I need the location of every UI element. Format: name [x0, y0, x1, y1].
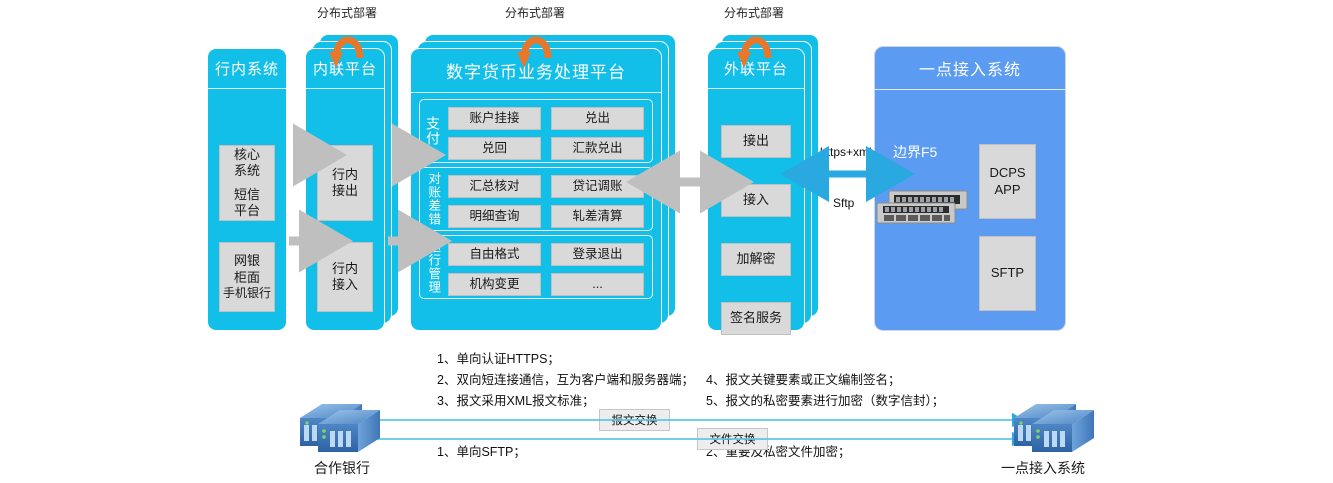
- chip-ext-out[interactable]: 接出: [721, 125, 791, 158]
- chip-line: 手机银行: [223, 286, 271, 301]
- chip-line: 行内: [332, 261, 358, 277]
- chip-dcps-app[interactable]: DCPS APP: [979, 144, 1036, 219]
- group-reconciliation: 对账差错 汇总核对 贷记调账 明细查询 轧差清算: [419, 167, 653, 231]
- chip-line: 接出: [332, 183, 358, 199]
- chip-line: 核心: [234, 147, 260, 163]
- group-payment-label: 支付: [420, 100, 446, 162]
- server-back-slots: [304, 425, 317, 441]
- server-back: [300, 404, 362, 446]
- intranet-system-body: 核心 系统 短信 平台 网银 柜面 手机银行: [208, 89, 286, 330]
- group-operations-cells: 自由格式 登录退出 机构变更 ...: [446, 236, 652, 298]
- chip-credit-adjust[interactable]: 贷记调账: [551, 175, 644, 198]
- note-line: 2、双向短连接通信，互为客户端和服务器端；: [437, 370, 694, 391]
- chip-exchange-back[interactable]: 兑回: [448, 137, 541, 160]
- dcep-platform-card[interactable]: 数字货币业务处理平台 支付 账户挂接 兑出 兑回 汇款兑出 对账差错 汇总核对: [410, 48, 662, 331]
- chip-line: APP: [994, 182, 1020, 198]
- chip-ebank-counter-mobile[interactable]: 网银 柜面 手机银行: [219, 242, 275, 312]
- chip-signature[interactable]: 签名服务: [721, 302, 791, 335]
- access-system-title: 一点接入系统: [875, 47, 1065, 90]
- chip-line: 系统: [234, 163, 260, 179]
- dcep-platform-body: 支付 账户挂接 兑出 兑回 汇款兑出 对账差错 汇总核对 贷记调账 明细查询 轧…: [411, 93, 661, 330]
- label-sftp: Sftp: [833, 196, 854, 210]
- chip-free-format[interactable]: 自由格式: [448, 243, 541, 266]
- group-operations: 运行管理 自由格式 登录退出 机构变更 ...: [419, 235, 653, 299]
- chip-line: DCPS: [989, 165, 1025, 181]
- chip-line: 短信: [234, 187, 260, 203]
- group-reconciliation-cells: 汇总核对 贷记调账 明细查询 轧差清算: [446, 168, 652, 230]
- chip-core-system[interactable]: 核心 系统 短信 平台: [219, 145, 275, 221]
- intranet-system-card[interactable]: 行内系统 核心 系统 短信 平台 网银 柜面 手机银行: [207, 48, 287, 331]
- intranet-system-title: 行内系统: [208, 49, 286, 89]
- chip-sftp[interactable]: SFTP: [979, 236, 1036, 311]
- right-server-label: 一点接入系统: [988, 458, 1098, 478]
- chip-line: 柜面: [234, 270, 260, 286]
- right-server-icon: [1014, 404, 1094, 452]
- chip-summary-check[interactable]: 汇总核对: [448, 175, 541, 198]
- chip-exchange-out[interactable]: 兑出: [551, 107, 644, 130]
- note-line: 5、报文的私密要素进行加密（数字信封）；: [706, 391, 944, 412]
- label-file-exchange: 文件交换: [697, 428, 768, 450]
- server-back: [1014, 404, 1076, 446]
- column-external-platform: 外联平台 接出 接入 加解密 签名服务: [707, 48, 805, 331]
- note-line: 4、报文关键要素或正文编制签名；: [706, 370, 944, 391]
- label-message-exchange: 报文交换: [599, 409, 670, 431]
- chip-remit-exchange-out[interactable]: 汇款兑出: [551, 137, 644, 160]
- notes-right: 4、报文关键要素或正文编制签名； 5、报文的私密要素进行加密（数字信封）；: [706, 370, 944, 412]
- chip-crypto[interactable]: 加解密: [721, 243, 791, 276]
- chip-line: 平台: [234, 203, 260, 219]
- access-system-body: 边界F5 DCPS APP SFTP: [875, 90, 1065, 330]
- external-platform-title: 外联平台: [708, 49, 804, 89]
- chip-line: 行内: [332, 167, 358, 183]
- group-payment-cells: 账户挂接 兑出 兑回 汇款兑出: [446, 100, 652, 162]
- chip-account-link[interactable]: 账户挂接: [448, 107, 541, 130]
- server-front: [318, 410, 380, 452]
- chip-login-logout[interactable]: 登录退出: [551, 243, 644, 266]
- chip-line: 接入: [332, 277, 358, 293]
- chip-internal-out[interactable]: 行内 接出: [317, 145, 373, 221]
- group-payment: 支付 账户挂接 兑出 兑回 汇款兑出: [419, 99, 653, 163]
- column-internal-platform: 内联平台 行内 接出 行内 接入: [305, 48, 385, 331]
- label-https-xml: https+xml: [820, 145, 872, 159]
- boundary-f5-label: 边界F5: [893, 142, 937, 162]
- group-reconciliation-label: 对账差错: [420, 168, 446, 230]
- diagram-canvas: 分布式部署 分布式部署 分布式部署 行内系统 核心 系统 短信 平台 网银 柜面…: [0, 0, 1333, 483]
- column-dcep-platform: 数字货币业务处理平台 支付 账户挂接 兑出 兑回 汇款兑出 对账差错 汇总核对: [410, 48, 662, 331]
- column-intranet-system: 行内系统 核心 系统 短信 平台 网银 柜面 手机银行: [207, 48, 287, 331]
- chip-netting-settlement[interactable]: 轧差清算: [551, 205, 644, 228]
- server-back-slots: [1018, 425, 1031, 441]
- note-bottom-left: 1、单向SFTP；: [437, 442, 526, 463]
- chip-ext-in[interactable]: 接入: [721, 184, 791, 217]
- internal-platform-title: 内联平台: [306, 49, 384, 89]
- server-front: [1032, 410, 1094, 452]
- left-server-icon: [300, 404, 380, 452]
- chip-internal-in[interactable]: 行内 接入: [317, 242, 373, 312]
- chip-detail-query[interactable]: 明细查询: [448, 205, 541, 228]
- access-system-card[interactable]: 一点接入系统 边界F5 DCPS APP SFTP: [874, 46, 1066, 331]
- distributed-label-1: 分布式部署: [317, 4, 377, 21]
- note-line: 1、单向认证HTTPS；: [437, 349, 694, 370]
- distributed-label-3: 分布式部署: [724, 4, 784, 21]
- left-server-label: 合作银行: [297, 458, 387, 478]
- internal-platform-card[interactable]: 内联平台 行内 接出 行内 接入: [305, 48, 385, 331]
- external-platform-body: 接出 接入 加解密 签名服务: [708, 89, 804, 330]
- chip-more[interactable]: ...: [551, 273, 644, 296]
- chip-org-change[interactable]: 机构变更: [448, 273, 541, 296]
- internal-platform-body: 行内 接出 行内 接入: [306, 89, 384, 330]
- group-operations-label: 运行管理: [420, 236, 446, 298]
- external-platform-card[interactable]: 外联平台 接出 接入 加解密 签名服务: [707, 48, 805, 331]
- dcep-platform-title: 数字货币业务处理平台: [411, 49, 661, 93]
- notes-left: 1、单向认证HTTPS； 2、双向短连接通信，互为客户端和服务器端； 3、报文采…: [437, 349, 694, 412]
- chip-line: 网银: [234, 253, 260, 269]
- distributed-label-2: 分布式部署: [505, 4, 565, 21]
